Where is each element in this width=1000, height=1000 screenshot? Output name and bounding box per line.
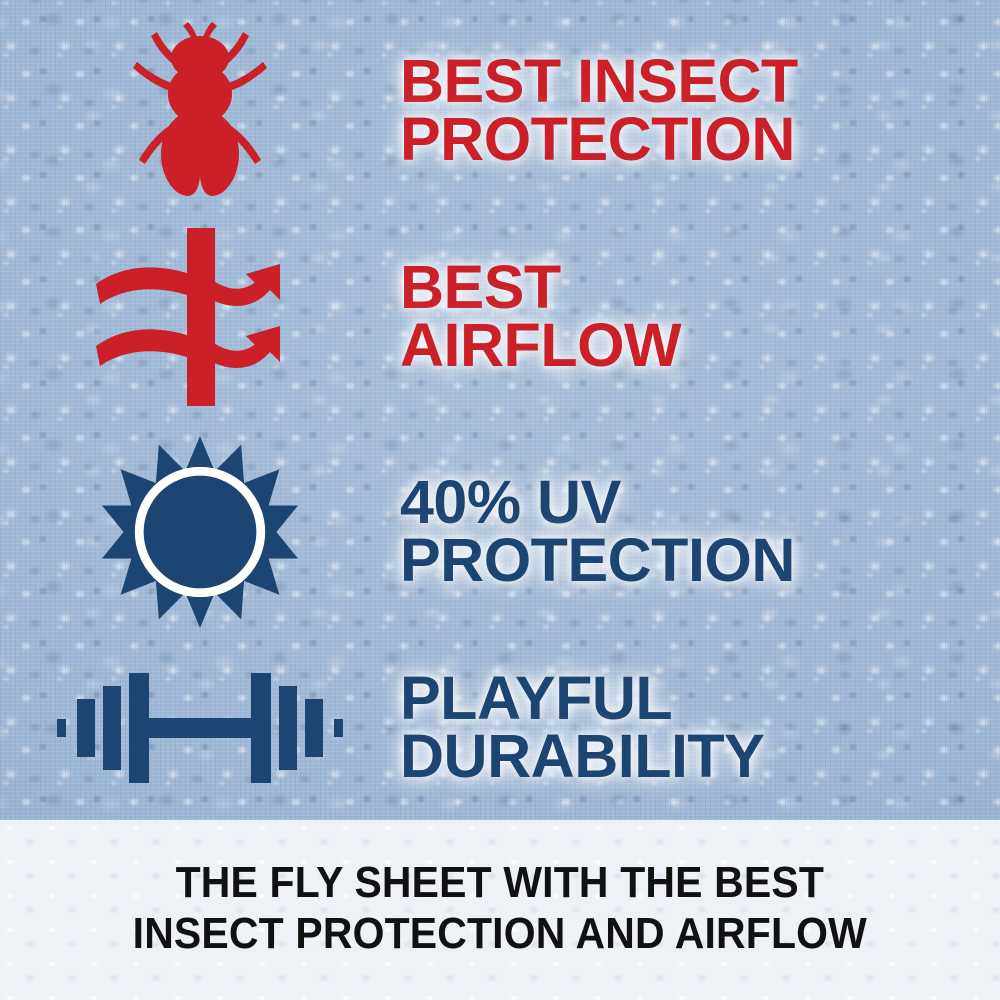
airflow-arrows-icon [94,222,306,412]
feature-label-airflow: BEST AIRFLOW [400,259,990,375]
feature-label-insect-protection: BEST INSECT PROTECTION [400,53,990,169]
feature-text-cell: PLAYFUL DURABILITY [400,670,1000,786]
feature-icon-cell [0,663,400,793]
feature-row-uv-protection: 40% UV PROTECTION [0,432,1000,632]
feature-text-cell: BEST INSECT PROTECTION [400,53,1000,169]
feature-icon-cell [0,434,400,630]
sun-uv-icon [102,434,298,630]
feature-row-airflow: BEST AIRFLOW [0,222,1000,412]
product-feature-infographic: BEST INSECT PROTECTION [0,0,1000,1000]
feature-row-durability: PLAYFUL DURABILITY [0,640,1000,815]
fly-icon [125,18,275,204]
caption-band: THE FLY SHEET WITH THE BEST INSECT PROTE… [0,820,1000,1000]
feature-row-insect-protection: BEST INSECT PROTECTION [0,16,1000,206]
caption-headline: THE FLY SHEET WITH THE BEST INSECT PROTE… [133,857,867,963]
feature-icon-cell [0,18,400,204]
feature-icon-cell [0,222,400,412]
feature-label-durability: PLAYFUL DURABILITY [400,670,990,786]
feature-label-uv-protection: 40% UV PROTECTION [400,474,990,590]
feature-text-cell: BEST AIRFLOW [400,259,1000,375]
feature-text-cell: 40% UV PROTECTION [400,474,1000,590]
dumbbell-icon [55,663,345,793]
